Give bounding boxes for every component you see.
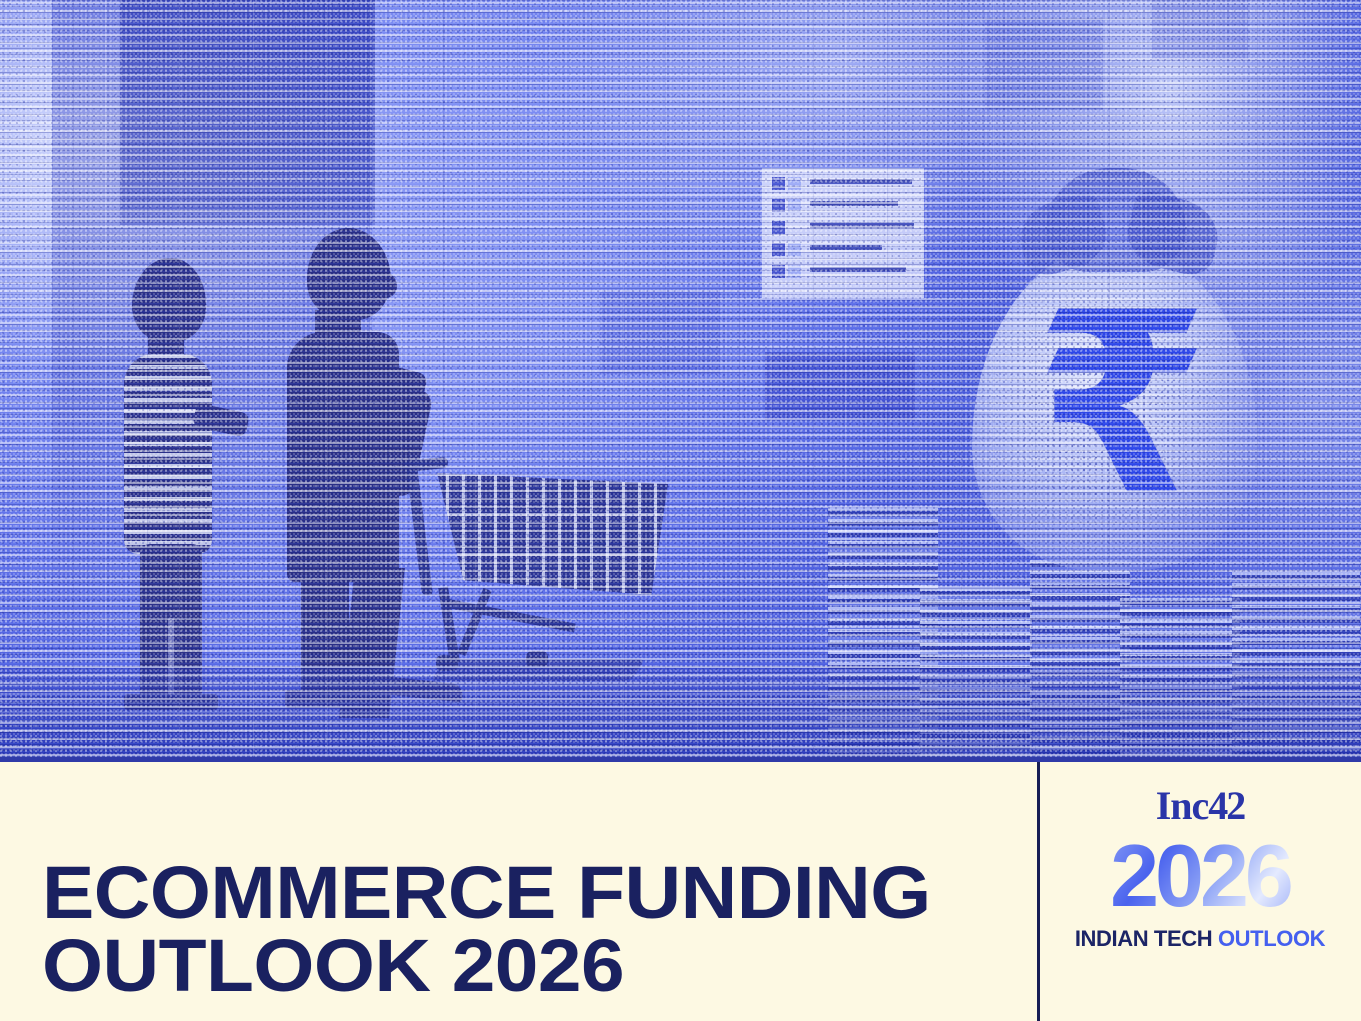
inc42-wordmark: Inc42 [1062, 786, 1338, 826]
logo-tagline-outlook: OUTLOOK [1218, 926, 1325, 951]
vertical-glitch-streaks [0, 0, 1361, 762]
logo-tagline-indian-tech: INDIAN TECH [1075, 926, 1212, 951]
footer-banner: ECOMMERCE FUNDING OUTLOOK 2026 Inc42 202… [0, 762, 1361, 1021]
logo-year-2026: 2026 [1062, 832, 1338, 920]
hero-illustration: ₹ [0, 0, 1361, 762]
footer-divider [1037, 762, 1040, 1021]
inc42-wordmark-prefix: Inc [1156, 783, 1209, 828]
inc42-wordmark-suffix: 42 [1208, 783, 1244, 828]
logo-tagline: INDIAN TECH OUTLOOK [1062, 926, 1338, 952]
inc42-logo[interactable]: Inc42 2026 INDIAN TECH OUTLOOK [1062, 782, 1338, 997]
poster-canvas: ₹ [0, 0, 1361, 1021]
page-title: ECOMMERCE FUNDING OUTLOOK 2026 [42, 856, 1070, 1003]
